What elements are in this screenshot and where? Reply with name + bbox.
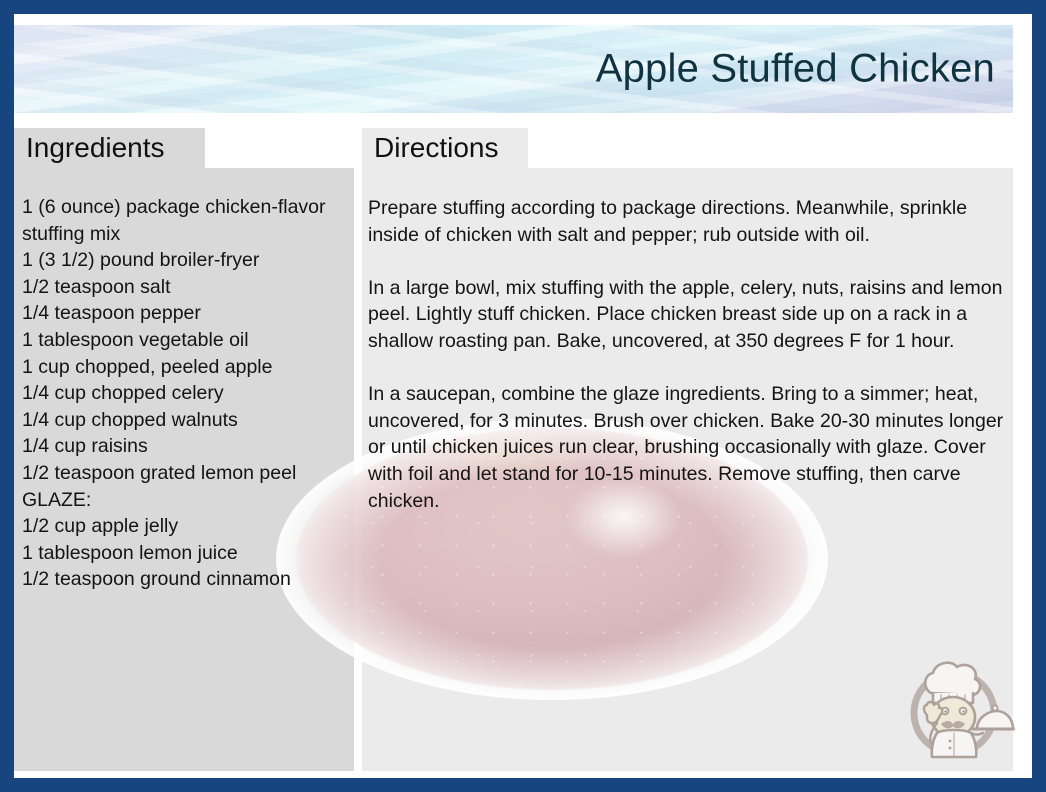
- ingredient-item: 1/2 cup apple jelly: [22, 513, 352, 540]
- ingredient-item: 1/4 teaspoon pepper: [22, 300, 352, 327]
- ingredient-item: 1/2 teaspoon grated lemon peel: [22, 460, 352, 487]
- ingredients-heading-label: Ingredients: [26, 134, 165, 162]
- direction-paragraph: In a saucepan, combine the glaze ingredi…: [368, 381, 1008, 514]
- ingredient-item: 1 (6 ounce) package chicken-flavor stuff…: [22, 194, 352, 247]
- ingredient-item: 1/4 cup chopped celery: [22, 380, 352, 407]
- ingredient-item: 1/4 cup raisins: [22, 433, 352, 460]
- directions-heading-tab: Directions: [362, 128, 528, 168]
- cloche-icon: [977, 711, 1013, 729]
- ingredient-item: 1 cup chopped, peeled apple: [22, 354, 352, 381]
- ingredient-item: 1 (3 1/2) pound broiler-fryer: [22, 247, 352, 274]
- ingredient-item: 1 tablespoon vegetable oil: [22, 327, 352, 354]
- ingredients-heading-tab: Ingredients: [14, 128, 205, 168]
- chef-mascot-logo: [893, 645, 1015, 767]
- directions-heading-label: Directions: [374, 134, 498, 162]
- chef-hat-icon: [925, 663, 980, 695]
- directions-text: Prepare stuffing according to package di…: [368, 195, 1008, 514]
- ingredient-item: 1/2 teaspoon ground cinnamon: [22, 566, 352, 593]
- ingredient-item: GLAZE:: [22, 487, 352, 514]
- direction-paragraph: Prepare stuffing according to package di…: [368, 195, 1008, 248]
- title-banner: Apple Stuffed Chicken: [14, 25, 1013, 113]
- direction-paragraph: In a large bowl, mix stuffing with the a…: [368, 275, 1008, 355]
- recipe-slide: Apple Stuffed Chicken Ingredients Direct…: [0, 0, 1046, 792]
- ingredients-list: 1 (6 ounce) package chicken-flavor stuff…: [22, 194, 352, 593]
- page-title: Apple Stuffed Chicken: [596, 47, 995, 92]
- ingredient-item: 1/2 teaspoon salt: [22, 274, 352, 301]
- ingredient-item: 1 tablespoon lemon juice: [22, 540, 352, 567]
- ingredient-item: 1/4 cup chopped walnuts: [22, 407, 352, 434]
